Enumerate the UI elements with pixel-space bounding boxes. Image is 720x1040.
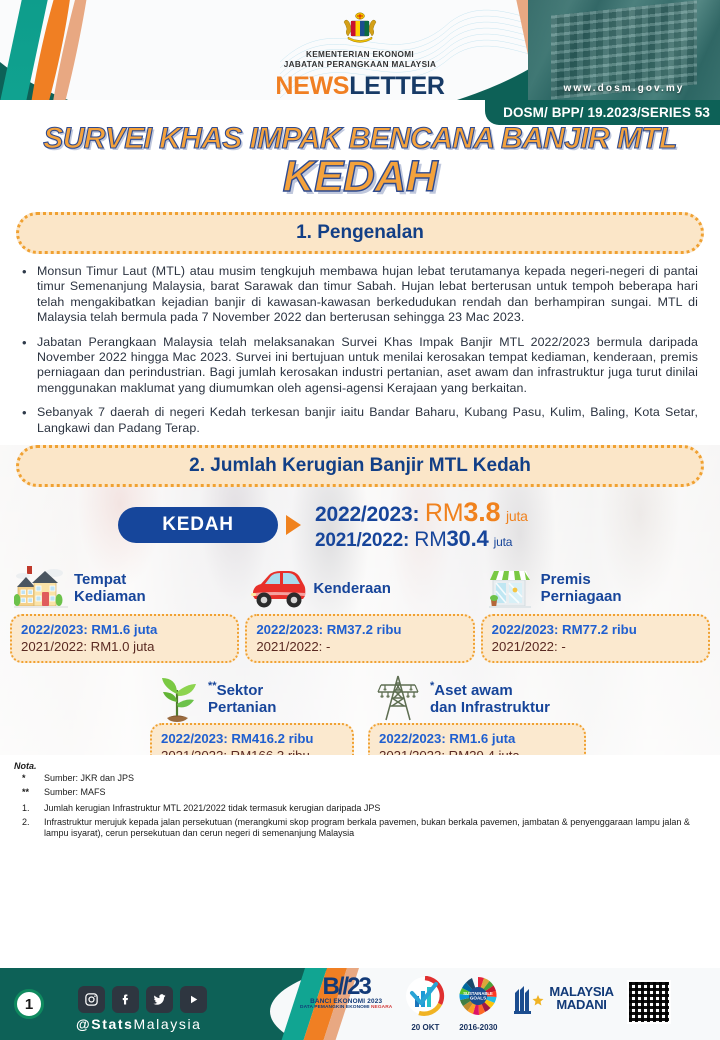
bullet-text: Monsun Timur Laut (MTL) atau musim tengk…: [37, 264, 698, 326]
bullet-item: • Sebanyak 7 daerah di negeri Kedah terk…: [22, 405, 698, 436]
card-title-line2: dan Infrastruktur: [430, 699, 550, 716]
total-previous-label: 2021/2022:: [315, 530, 409, 551]
card-title-line2: Pertanian: [208, 699, 276, 716]
page-title-line1: SURVEI KHAS IMPAK BENCANA BANJIR MTL: [0, 122, 720, 156]
card-title-line1: Aset awam: [434, 682, 512, 699]
total-previous-year: 2021/2022: RM30.4 juta: [315, 526, 528, 552]
handle-light-part: Malaysia: [134, 1016, 202, 1032]
notes-section: Nota. * Sumber: JKR dan JPS ** Sumber: M…: [0, 755, 720, 840]
newsletter-wordmark: NEWSLETTER: [0, 72, 720, 100]
card-title-line1: Premis: [541, 571, 591, 588]
dosm-logo-block: KEMENTERIAN EKONOMI JABATAN PERANGKAAN M…: [0, 8, 720, 100]
note-item: 2. Infrastruktur merujuk kepada jalan pe…: [14, 817, 706, 840]
banci-logo-sub: BANCI EKONOMI 2023: [300, 998, 392, 1005]
youtube-icon[interactable]: [180, 986, 207, 1013]
mycensus-caption: 20 OKT: [405, 1023, 445, 1032]
section-1-body: • Monsun Timur Laut (MTL) atau musim ten…: [0, 254, 720, 436]
note-marker: *: [14, 773, 40, 785]
card-title-line2: Kediaman: [74, 588, 146, 605]
category-card-sektor-pertanian: **Sektor Pertanian 2022/2023: RM416.2 ri…: [150, 671, 354, 755]
note-marker: 2.: [14, 817, 40, 840]
sdg-malaysia-logo: SUSTAINABLE GOALS 2016-2030: [458, 976, 498, 1032]
card-value-previous: 2021/2022: RM29.4 juta: [379, 748, 575, 755]
card-value-previous: 2021/2022: RM1.0 juta: [21, 639, 228, 654]
card-title: Premis Perniagaan: [541, 571, 622, 605]
category-card-kenderaan: Kenderaan 2022/2023: RM37.2 ribu 2021/20…: [245, 562, 474, 663]
page-title-line2: KEDAH: [0, 152, 720, 202]
banci-logo-sub2a: DATA PEMANGKIN EKONOMI: [300, 1005, 371, 1010]
sdg-wheel-icon: SUSTAINABLE GOALS: [458, 976, 498, 1016]
state-pill-kedah: KEDAH: [118, 507, 278, 543]
total-previous-value: 30.4: [447, 526, 489, 551]
card-values-box: 2022/2023: RM1.6 juta 2021/2022: RM1.0 j…: [10, 614, 239, 663]
total-current-unit: juta: [506, 508, 528, 524]
note-item: ** Sumber: MAFS: [14, 787, 706, 799]
card-value-current: 2022/2023: RM1.6 juta: [21, 622, 228, 637]
bullet-text: Sebanyak 7 daerah di negeri Kedah terkes…: [37, 405, 698, 436]
card-value-current: 2022/2023: RM37.2 ribu: [256, 622, 463, 637]
card-title: Tempat Kediaman: [74, 571, 146, 605]
page-footer: 1 @StatsMalaysia B//23 BANCI: [0, 968, 720, 1040]
card-value-previous: 2021/2022: -: [492, 639, 699, 654]
card-title: *Aset awam dan Infrastruktur: [430, 678, 550, 716]
category-card-premis-perniagaan: Premis Perniagaan 2022/2023: RM77.2 ribu…: [481, 562, 710, 663]
card-values-box: 2022/2023: RM1.6 juta 2021/2022: RM29.4 …: [368, 723, 586, 755]
notes-title: Nota.: [14, 761, 706, 771]
bullet-dot-icon: •: [22, 335, 28, 397]
card-title-marker: **: [208, 680, 217, 692]
handle-bold-part: @Stats: [76, 1016, 134, 1032]
card-value-current: 2022/2023: RM1.6 juta: [379, 731, 575, 746]
social-icons-group: [78, 986, 207, 1013]
madani-emblem-icon: [511, 981, 545, 1015]
note-text: Sumber: MAFS: [44, 787, 106, 799]
car-icon: [249, 566, 307, 610]
banci-logo-sub2: DATA PEMANGKIN EKONOMI NEGARA: [300, 1005, 392, 1010]
note-marker: **: [14, 787, 40, 799]
card-title-line1: Kenderaan: [313, 580, 391, 597]
card-title-line1: Sektor: [217, 682, 264, 699]
twitter-icon[interactable]: [146, 986, 173, 1013]
pylon-icon: [372, 672, 424, 722]
newsletter-letter-text: LETTER: [349, 72, 444, 100]
shop-icon: [485, 564, 535, 612]
category-cards-row-1: Tempat Kediaman 2022/2023: RM1.6 juta 20…: [0, 552, 720, 663]
note-text: Jumlah kerugian Infrastruktur MTL 2021/2…: [44, 803, 380, 815]
state-total-figures: 2022/2023: RM3.8 juta 2021/2022: RM30.4 …: [315, 497, 528, 552]
banci-logo-mark: B//23: [300, 976, 392, 998]
total-current-label: 2022/2023:: [315, 503, 419, 526]
note-item: * Sumber: JKR dan JPS: [14, 773, 706, 785]
card-title: Kenderaan: [313, 580, 391, 597]
social-handle[interactable]: @StatsMalaysia: [76, 1016, 202, 1032]
house-icon: [14, 564, 68, 612]
card-value-current: 2022/2023: RM77.2 ribu: [492, 622, 699, 637]
card-values-box: 2022/2023: RM416.2 ribu 2021/2022: RM166…: [150, 723, 354, 755]
card-value-previous: 2021/2022: -: [256, 639, 463, 654]
total-current-currency: RM: [425, 499, 463, 527]
facebook-icon[interactable]: [112, 986, 139, 1013]
card-title-line1: Tempat: [74, 571, 126, 588]
state-total-row: KEDAH 2022/2023: RM3.8 juta 2021/2022: R…: [0, 487, 720, 552]
malaysia-madani-logo: MALAYSIA MADANI: [511, 981, 613, 1015]
mycensus-emblem-icon: [405, 976, 445, 1016]
footer-logos-group: B//23 BANCI EKONOMI 2023 DATA PEMANGKIN …: [300, 976, 671, 1032]
banci-ekonomi-2023-logo: B//23 BANCI EKONOMI 2023 DATA PEMANGKIN …: [300, 976, 392, 1010]
seedling-icon: [154, 672, 202, 722]
ministry-line-2: JABATAN PERANGKAAN MALAYSIA: [0, 60, 720, 69]
bullet-item: • Monsun Timur Laut (MTL) atau musim ten…: [22, 264, 698, 326]
card-title: **Sektor Pertanian: [208, 678, 276, 716]
bullet-dot-icon: •: [22, 264, 28, 326]
card-value-current: 2022/2023: RM416.2 ribu: [161, 731, 343, 746]
category-card-tempat-kediaman: Tempat Kediaman 2022/2023: RM1.6 juta 20…: [10, 562, 239, 663]
section-1-heading: 1. Pengenalan: [16, 212, 704, 254]
card-values-box: 2022/2023: RM37.2 ribu 2021/2022: -: [245, 614, 474, 663]
total-previous-unit: juta: [494, 535, 513, 549]
newsletter-news-text: NEWS: [275, 72, 349, 100]
category-cards-row-2: **Sektor Pertanian 2022/2023: RM416.2 ri…: [0, 663, 720, 755]
card-values-box: 2022/2023: RM77.2 ribu 2021/2022: -: [481, 614, 710, 663]
card-value-previous: 2021/2022: RM166.3 ribu: [161, 748, 343, 755]
page-number-badge: 1: [14, 989, 44, 1019]
bullet-item: • Jabatan Perangkaan Malaysia telah mela…: [22, 335, 698, 397]
madani-line2: MADANI: [556, 997, 606, 1012]
total-current-value: 3.8: [463, 497, 500, 527]
qr-code[interactable]: [627, 980, 671, 1024]
total-current-year: 2022/2023: RM3.8 juta: [315, 497, 528, 528]
section-2-panel: 2. Jumlah Kerugian Banjir MTL Kedah KEDA…: [0, 445, 720, 755]
category-card-aset-awam: *Aset awam dan Infrastruktur 2022/2023: …: [368, 671, 586, 755]
ministry-line-1: KEMENTERIAN EKONOMI: [0, 50, 720, 59]
bullet-dot-icon: •: [22, 405, 28, 436]
madani-wordmark: MALAYSIA MADANI: [549, 985, 613, 1011]
note-text: Sumber: JKR dan JPS: [44, 773, 134, 785]
arrow-right-icon: [286, 515, 301, 535]
section-2-heading: 2. Jumlah Kerugian Banjir MTL Kedah: [16, 445, 704, 487]
instagram-icon[interactable]: [78, 986, 105, 1013]
svg-text:GOALS: GOALS: [470, 996, 486, 1001]
bullet-text: Jabatan Perangkaan Malaysia telah melaks…: [37, 335, 698, 397]
banci-logo-sub2b: NEGARA: [371, 1005, 392, 1010]
note-item: 1. Jumlah kerugian Infrastruktur MTL 202…: [14, 803, 706, 815]
note-text: Infrastruktur merujuk kepada jalan perse…: [44, 817, 706, 840]
sdg-caption: 2016-2030: [458, 1023, 498, 1032]
card-title-line2: Perniagaan: [541, 588, 622, 605]
mycensus-logo: 20 OKT: [405, 976, 445, 1032]
malaysia-coat-of-arms-icon: [340, 8, 380, 48]
note-marker: 1.: [14, 803, 40, 815]
page-header: KEMENTERIAN EKONOMI JABATAN PERANGKAAN M…: [0, 0, 720, 100]
total-previous-currency: RM: [414, 528, 446, 551]
series-badge: DOSM/ BPP/ 19.2023/SERIES 53: [485, 100, 720, 125]
